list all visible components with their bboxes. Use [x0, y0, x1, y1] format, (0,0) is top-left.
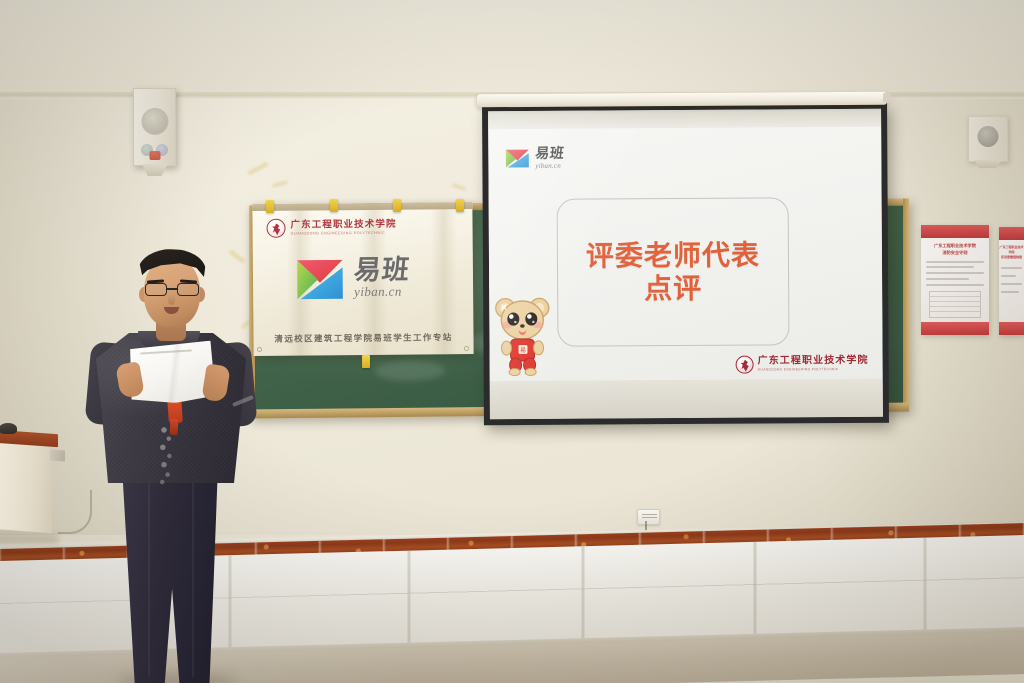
slide-title: 评委老师代表 点评 — [558, 238, 788, 305]
slide-university-name-en: GUANGDONG ENGINEERING POLYTECHNIC — [758, 368, 869, 372]
lectern — [0, 432, 58, 544]
banner-brand-en: yiban.cn — [354, 285, 410, 298]
poster-title-line1: 广东工程职业技术学院 — [999, 245, 1023, 254]
lectern-body — [0, 441, 52, 533]
projection-screen-housing[interactable] — [477, 92, 887, 108]
slide-university-footer: 广东工程职业技术学院 GUANGDONG ENGINEERING POLYTEC… — [736, 355, 869, 374]
banner-clip — [393, 199, 401, 212]
yiban-triangle-logo-icon — [293, 251, 347, 305]
poster-title: 广东工程职业技术学院 实训室管理制度 — [999, 245, 1024, 259]
eyeglass-lens-left — [145, 283, 167, 296]
lectern-side-plate — [50, 449, 65, 461]
banner-university-name-en: GUANGDONG ENGINEERING POLYTECHNIC — [291, 231, 397, 236]
yiban-cloth-banner: 广东工程职业技术学院 GUANGDONG ENGINEERING POLYTEC… — [252, 202, 473, 356]
screen-bottom-strip — [490, 379, 883, 419]
banner-clip — [362, 355, 370, 368]
university-seal-icon — [266, 219, 285, 238]
banner-university-header: 广东工程职业技术学院 GUANGDONG ENGINEERING POLYTEC… — [266, 218, 396, 238]
speaker-cone-icon — [978, 126, 999, 147]
poster-top-band — [921, 225, 989, 238]
slide-title-box: 评委老师代表 点评 — [557, 197, 790, 346]
wall-speaker-left — [133, 88, 176, 166]
poster-bottom-band — [999, 322, 1024, 335]
microphone-icon — [0, 423, 17, 434]
slide-brand-cn: 易班 — [535, 146, 565, 160]
eyeglass-bridge — [167, 288, 177, 290]
bear-mascot-icon: 易 — [492, 293, 553, 377]
slide-yiban-logo: 易班 yiban.cn — [504, 145, 564, 171]
slide-brand-en: yiban.cn — [535, 162, 564, 169]
socket-slot-icon — [642, 514, 657, 518]
banner-yiban-logo: 易班 yiban.cn — [293, 251, 410, 306]
speaker-badge-icon — [149, 151, 160, 160]
presenter-speaking — [82, 247, 282, 683]
projection-screen: 易班 yiban.cn 评委老师代表 点评 — [482, 103, 889, 425]
banner-brand-cn: 易班 — [353, 257, 411, 283]
poster-title-line2: 消防安全守则 — [942, 250, 967, 255]
svg-text:易: 易 — [520, 347, 526, 354]
notice-poster: 广东工程职业技术学院 消防安全守则 — [921, 225, 989, 335]
banner-footer-text: 清远校区建筑工程学院易班学生工作专站 — [253, 331, 473, 345]
poster-top-band — [999, 227, 1024, 240]
yiban-triangle-logo-icon — [504, 145, 530, 171]
presenter-legs — [118, 469, 222, 683]
poster-table — [929, 291, 981, 318]
lanyard-strap — [170, 419, 179, 435]
eyeglass-lens-right — [177, 283, 199, 296]
slide-title-line1: 评委老师代表 — [586, 239, 760, 273]
notice-poster: 广东工程职业技术学院 实训室管理制度 — [999, 227, 1024, 335]
nose — [168, 295, 175, 305]
banner-clip — [330, 199, 338, 212]
wall-speaker-right — [968, 116, 1008, 162]
projected-slide: 易班 yiban.cn 评委老师代表 点评 — [488, 127, 883, 381]
slide-title-line2: 点评 — [558, 271, 788, 305]
poster-title-line1: 广东工程职业技术学院 — [934, 243, 976, 248]
banner-clip — [456, 199, 464, 212]
classroom-scene: 广东工程职业技术学院 GUANGDONG ENGINEERING POLYTEC… — [0, 0, 1024, 683]
upper-wall — [0, 0, 1024, 100]
poster-title: 广东工程职业技术学院 消防安全守则 — [921, 243, 989, 256]
banner-clip — [266, 200, 274, 213]
speaker-cone-icon — [141, 108, 168, 135]
shirt-graphic-print — [152, 425, 182, 487]
banner-eyelet — [464, 346, 469, 351]
banner-university-name-cn: 广东工程职业技术学院 — [290, 219, 396, 229]
projection-screen-surface: 易班 yiban.cn 评委老师代表 点评 — [488, 109, 883, 419]
screen-top-band — [488, 109, 881, 129]
lectern-shadow — [0, 534, 58, 544]
slide-university-name-cn: 广东工程职业技术学院 — [758, 356, 869, 367]
screen-pull-knob-icon[interactable] — [883, 93, 891, 103]
university-seal-icon — [736, 356, 754, 374]
poster-title-line2: 实训室管理制度 — [1001, 255, 1022, 259]
chalkboard-frame-right — [903, 199, 909, 412]
poster-bottom-band — [921, 322, 989, 335]
